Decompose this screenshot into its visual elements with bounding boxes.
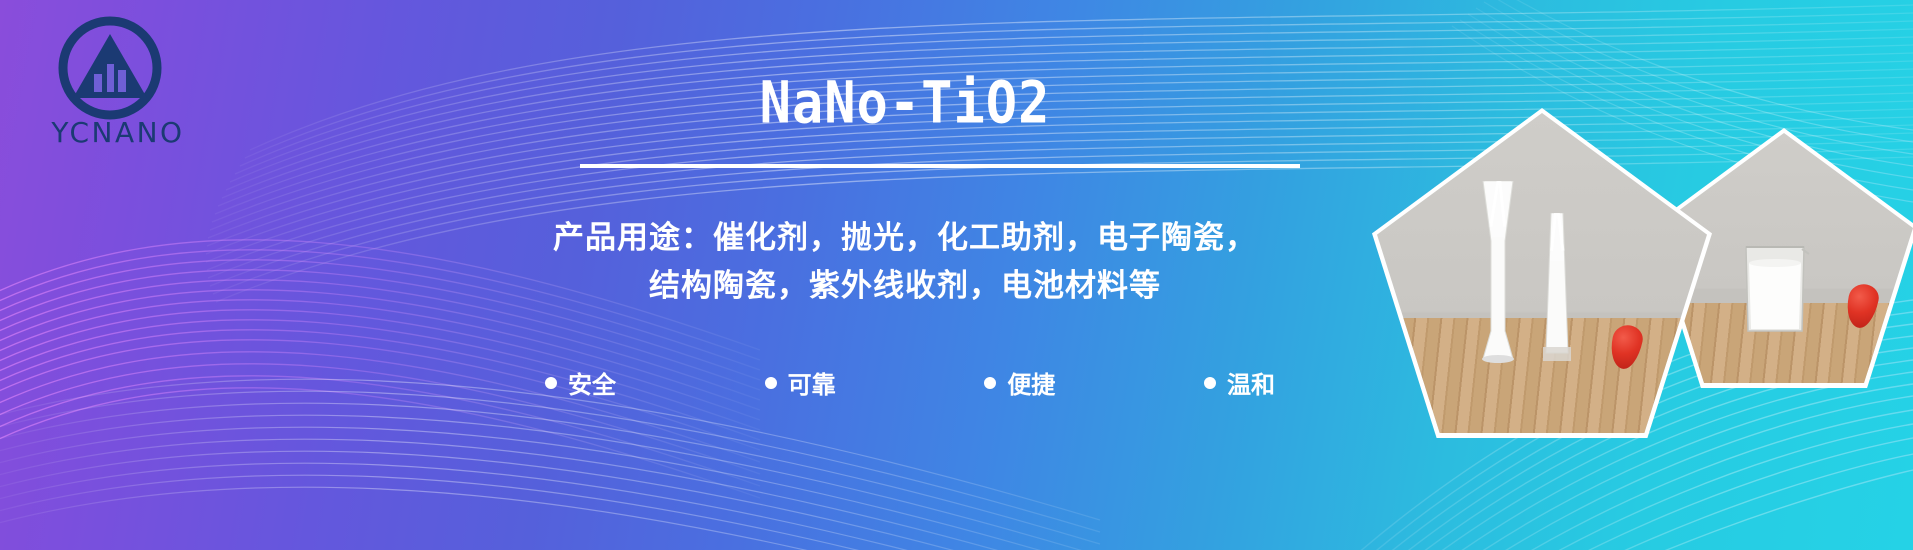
feature-label: 温和: [1227, 365, 1275, 400]
brand-logo[interactable]: YCNANO: [44, 8, 194, 158]
photo-frame-inner: [1377, 113, 1707, 433]
ycnano-mountain-emblem-icon: [54, 12, 166, 124]
feature-label: 便捷: [1007, 365, 1055, 400]
banner-content: NaNo-TiO2 产品用途：催化剂，抛光，化工助剂，电子陶瓷， 结构陶瓷，紫外…: [490, 0, 1320, 550]
page-title: NaNo-TiO2: [490, 70, 1320, 137]
photo-backdrop: [1377, 113, 1707, 433]
title-divider: [580, 164, 1300, 168]
product-usage-line-1: 产品用途：催化剂，抛光，化工助剂，电子陶瓷，: [490, 212, 1320, 257]
beaker-with-white-slurry: [1740, 241, 1810, 333]
bullet-dot-icon: [1204, 377, 1216, 389]
feature-item-mild: 温和: [1204, 365, 1275, 400]
feature-bullet-list: 安全 可靠 便捷 温和: [520, 365, 1300, 400]
product-usage-line-2: 结构陶瓷，紫外线收剂，电池材料等: [490, 260, 1320, 305]
product-banner: YCNANO NaNo-TiO2 产品用途：催化剂，抛光，化工助剂，电子陶瓷， …: [0, 0, 1913, 550]
feature-item-reliable: 可靠: [765, 365, 836, 400]
feature-label: 安全: [568, 365, 616, 400]
logo-wordmark: YCNANO: [44, 116, 192, 149]
tall-vase-with-white-powder: [1476, 181, 1520, 363]
feature-label: 可靠: [788, 365, 836, 400]
pentagon-photo-powder-vases: [1372, 108, 1712, 438]
bullet-dot-icon: [545, 377, 557, 389]
slim-vase-with-white-powder: [1539, 213, 1575, 363]
feature-item-safe: 安全: [545, 365, 616, 400]
bullet-dot-icon: [765, 377, 777, 389]
bullet-dot-icon: [984, 377, 996, 389]
feature-item-convenient: 便捷: [984, 365, 1055, 400]
